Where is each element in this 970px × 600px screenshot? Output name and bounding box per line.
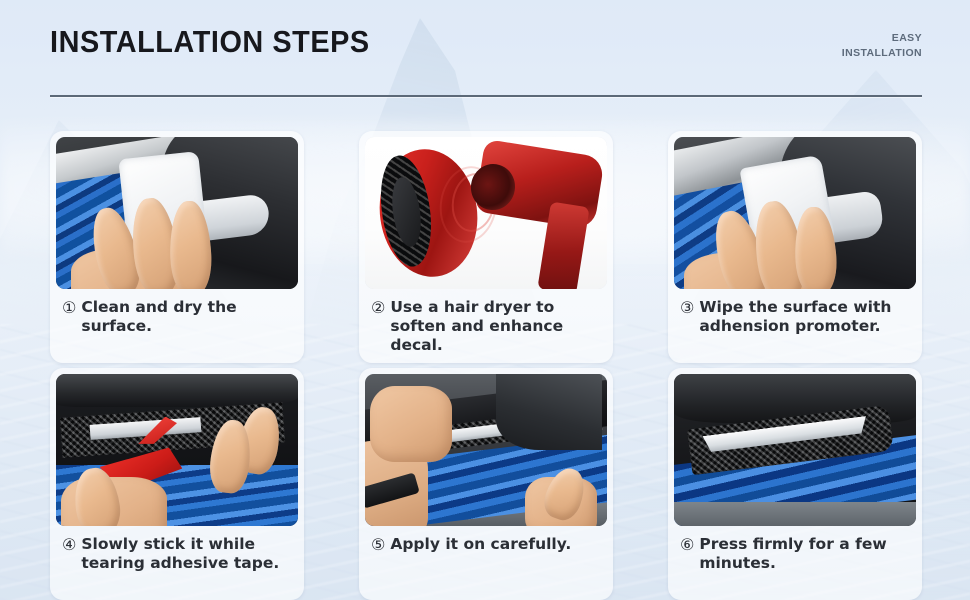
step-text-3: Wipe the surface with adhension promoter…: [699, 298, 912, 336]
step-card-2: ② Use a hair dryer to soften and enhance…: [359, 131, 613, 363]
step-number-6: ⑥: [680, 535, 694, 554]
step-number-3: ③: [680, 298, 694, 317]
header-divider: [50, 95, 922, 97]
step-number-2: ②: [371, 298, 385, 317]
ground: [674, 502, 916, 526]
steps-grid: ① Clean and dry the surface. ② Use a hai…: [50, 131, 922, 600]
tagline-line-2: INSTALLATION: [842, 46, 922, 61]
step-text-1: Clean and dry the surface.: [81, 298, 294, 336]
step-text-6: Press firmly for a few minutes.: [699, 535, 912, 573]
step-text-5: Apply it on carefully.: [390, 535, 603, 554]
step-text-4: Slowly stick it while tearing adhesive t…: [81, 535, 294, 573]
step-number-5: ⑤: [371, 535, 385, 554]
step-photo-5: [365, 374, 607, 526]
tagline: EASY INSTALLATION: [842, 31, 922, 61]
step-card-3: ③ Wipe the surface with adhension promot…: [668, 131, 922, 363]
header: INSTALLATION STEPS EASY INSTALLATION: [0, 0, 970, 110]
step-card-6: ⑥ Press firmly for a few minutes.: [668, 368, 922, 600]
step-caption-3: ③ Wipe the surface with adhension promot…: [674, 289, 916, 336]
step-caption-2: ② Use a hair dryer to soften and enhance…: [365, 289, 607, 356]
step-card-4: ④ Slowly stick it while tearing adhesive…: [50, 368, 304, 600]
step-number-1: ①: [62, 298, 76, 317]
step-caption-1: ① Clean and dry the surface.: [56, 289, 298, 336]
step-caption-5: ⑤ Apply it on carefully.: [365, 526, 607, 554]
step-card-5: ⑤ Apply it on carefully.: [359, 368, 613, 600]
hand-palm-left: [370, 386, 452, 462]
step-photo-3: [674, 137, 916, 289]
step-number-4: ④: [62, 535, 76, 554]
door-panel: [56, 374, 298, 407]
step-text-2: Use a hair dryer to soften and enhance d…: [390, 298, 603, 356]
page-title: INSTALLATION STEPS: [50, 24, 370, 60]
step-card-1: ① Clean and dry the surface.: [50, 131, 304, 363]
step-photo-6: [674, 374, 916, 526]
installation-steps-infographic: INSTALLATION STEPS EASY INSTALLATION: [0, 0, 970, 600]
step-photo-4: [56, 374, 298, 526]
tagline-line-1: EASY: [842, 31, 922, 46]
step-photo-2: [365, 137, 607, 289]
door-panel: [496, 374, 602, 450]
step-caption-4: ④ Slowly stick it while tearing adhesive…: [56, 526, 298, 573]
step-photo-1: [56, 137, 298, 289]
step-caption-6: ⑥ Press firmly for a few minutes.: [674, 526, 916, 573]
